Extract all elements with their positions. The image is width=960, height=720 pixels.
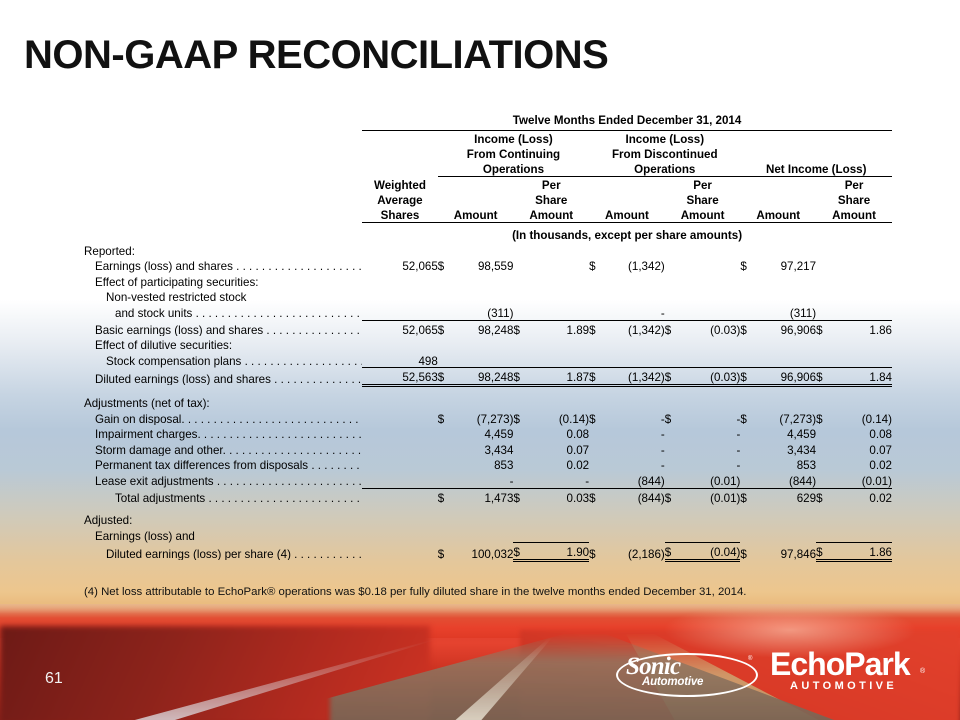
row-label-text: Basic earnings (loss) and shares [95, 324, 266, 337]
spacer-cell [84, 130, 362, 146]
continuing-per-share: 0.08 [526, 425, 589, 441]
col-header-pershare-net: Per [816, 176, 892, 192]
continuing-per-share: 0.03 [526, 488, 589, 504]
net-per-share: (0.01) [828, 472, 892, 488]
net-amount [753, 273, 816, 289]
slide-canvas: NON-GAAP RECONCILIATIONS Twelve Months E… [0, 0, 960, 720]
col-header-amount-continuing: Amount [438, 207, 514, 223]
col-header-amount-discontinued [589, 176, 665, 192]
continuing-per-share: 1.89 [526, 320, 589, 336]
leader-dots: . . . . . . . . . . . . . . . . . . . . … [204, 429, 362, 441]
continuing-per-share: 1.90 [526, 543, 589, 561]
continuing-per-share [526, 273, 589, 289]
group-header-continuing: Income (Loss) [438, 130, 589, 146]
discontinued-amount-currency [589, 304, 601, 320]
discontinued-per-share-currency: $ [665, 410, 677, 426]
weighted-shares-currency [362, 352, 373, 368]
row-label: Effect of participating securities: [84, 273, 362, 289]
continuing-per-share-currency [513, 456, 525, 472]
continuing-amount-currency [438, 425, 450, 441]
weighted-shares [373, 288, 437, 304]
row-label-text: Stock compensation plans [106, 355, 245, 368]
net-amount-currency [740, 288, 752, 304]
row-label-text: Storm damage and other. [95, 444, 229, 457]
weighted-shares-currency [362, 425, 373, 441]
net-amount: 97,217 [753, 257, 816, 273]
table-row: Earnings (loss) and [84, 527, 892, 543]
discontinued-per-share-currency: $ [665, 543, 677, 561]
continuing-amount-currency: $ [438, 410, 450, 426]
continuing-amount-currency [438, 527, 450, 543]
continuing-per-share-currency: $ [513, 368, 525, 386]
group-header-net-income [740, 130, 892, 146]
weighted-shares-currency [362, 441, 373, 457]
weighted-shares [373, 441, 437, 457]
discontinued-per-share: - [677, 425, 740, 441]
row-label: Effect of dilutive securities: [84, 336, 362, 352]
col-header-weighted-shares: Average [362, 192, 438, 207]
discontinued-per-share [677, 304, 740, 320]
weighted-shares-currency [362, 368, 373, 386]
continuing-per-share-currency [513, 425, 525, 441]
discontinued-per-share-currency [665, 352, 677, 368]
net-per-share-currency [816, 456, 828, 472]
sonic-registered-icon: ® [748, 656, 752, 662]
net-amount: 853 [753, 456, 816, 472]
discontinued-amount: (1,342) [601, 368, 664, 386]
discontinued-amount-currency [589, 352, 601, 368]
continuing-per-share: - [526, 472, 589, 488]
col-header-pershare-continuing: Amount [513, 207, 589, 223]
net-amount: 629 [753, 488, 816, 504]
net-amount-currency: $ [740, 488, 752, 504]
discontinued-per-share: (0.03) [677, 320, 740, 336]
net-amount-currency [740, 441, 752, 457]
continuing-amount-currency [438, 288, 450, 304]
continuing-per-share: 1.87 [526, 368, 589, 386]
net-amount-currency [740, 304, 752, 320]
discontinued-amount: (1,342) [601, 257, 664, 273]
row-label-text: Diluted earnings (loss) and shares [95, 373, 274, 386]
net-per-share-currency: $ [816, 410, 828, 426]
discontinued-per-share [677, 273, 740, 289]
discontinued-amount: - [601, 425, 664, 441]
weighted-shares-currency [362, 410, 373, 426]
discontinued-amount-currency [589, 441, 601, 457]
weighted-shares [373, 273, 437, 289]
spacer-cell [84, 115, 362, 130]
row-label: Diluted earnings (loss) per share (4) . … [84, 543, 362, 561]
group-header-discontinued: From Discontinued [589, 146, 740, 161]
weighted-shares [373, 472, 437, 488]
discontinued-per-share-currency [665, 441, 677, 457]
continuing-amount: - [450, 472, 513, 488]
continuing-per-share: 0.07 [526, 441, 589, 457]
col-header-amount-discontinued [589, 192, 665, 207]
continuing-per-share-currency [513, 472, 525, 488]
discontinued-per-share-currency [665, 304, 677, 320]
weighted-shares-currency [362, 273, 373, 289]
discontinued-per-share-currency [665, 273, 677, 289]
col-header-pershare-continuing: Per [513, 176, 589, 192]
col-header-amount-net [740, 192, 816, 207]
row-label: Gain on disposal. . . . . . . . . . . . … [84, 410, 362, 426]
leader-dots: . . . . . . . . . . . . . . . . . . . . … [236, 261, 362, 273]
table-row: Storm damage and other. . . . . . . . . … [84, 441, 892, 457]
col-header-weighted-shares: Weighted [362, 176, 438, 192]
row-label: Impairment charges. . . . . . . . . . . … [84, 425, 362, 441]
row-label-text: Gain on disposal. [95, 413, 188, 426]
discontinued-amount [601, 288, 664, 304]
net-per-share [828, 288, 892, 304]
continuing-amount: 3,434 [450, 441, 513, 457]
table-row: Non-vested restricted stock [84, 288, 892, 304]
net-per-share: (0.14) [828, 410, 892, 426]
continuing-per-share-currency: $ [513, 410, 525, 426]
net-amount-currency [740, 527, 752, 543]
continuing-amount-currency: $ [438, 257, 450, 273]
weighted-shares [373, 488, 437, 504]
col-header-weighted-shares: Shares [362, 207, 438, 223]
continuing-amount: 98,559 [450, 257, 513, 273]
table-row: Stock compensation plans . . . . . . . .… [84, 352, 892, 368]
continuing-per-share-currency [513, 336, 525, 352]
leader-dots: . . . . . . . . . . . . . . . . . . . . … [274, 374, 362, 386]
discontinued-amount: (1,342) [601, 320, 664, 336]
spacer-cell [362, 130, 438, 146]
discontinued-amount-currency: $ [589, 488, 601, 504]
spacer-cell [84, 192, 362, 207]
table-row: Total adjustments . . . . . . . . . . . … [84, 488, 892, 504]
continuing-per-share-currency [513, 352, 525, 368]
weighted-shares-currency [362, 456, 373, 472]
continuing-amount-currency [438, 336, 450, 352]
discontinued-amount: - [601, 441, 664, 457]
row-label-text: Total adjustments [115, 492, 208, 505]
units-note: (In thousands, except per share amounts) [362, 222, 892, 242]
net-amount-currency: $ [740, 368, 752, 386]
net-amount: 96,906 [753, 368, 816, 386]
continuing-amount: 1,473 [450, 488, 513, 504]
col-header-pershare-discontinued: Share [665, 192, 741, 207]
net-per-share: 0.02 [828, 488, 892, 504]
page-number: 61 [45, 670, 63, 688]
net-per-share-currency: $ [816, 368, 828, 386]
sonic-automotive-logo: Sonic Automotive ® [616, 648, 756, 698]
discontinued-per-share [677, 257, 740, 273]
net-per-share-currency [816, 527, 828, 543]
net-per-share [828, 273, 892, 289]
group-header-discontinued: Income (Loss) [589, 130, 740, 146]
weighted-shares: 498 [373, 352, 437, 368]
table-row: and stock units . . . . . . . . . . . . … [84, 304, 892, 320]
net-per-share-currency [816, 352, 828, 368]
weighted-shares: 52,065 [373, 320, 437, 336]
discontinued-amount [601, 336, 664, 352]
net-amount-currency: $ [740, 320, 752, 336]
discontinued-per-share [677, 527, 740, 543]
continuing-amount-currency [438, 304, 450, 320]
continuing-per-share: 0.02 [526, 456, 589, 472]
net-per-share-currency [816, 288, 828, 304]
continuing-amount [450, 527, 513, 543]
continuing-per-share-currency [513, 273, 525, 289]
discontinued-amount-currency [589, 273, 601, 289]
weighted-shares-currency [362, 257, 373, 273]
continuing-amount: 98,248 [450, 368, 513, 386]
row-label: Total adjustments . . . . . . . . . . . … [84, 488, 362, 504]
continuing-per-share-currency [513, 304, 525, 320]
discontinued-amount-currency: $ [589, 543, 601, 561]
discontinued-amount-currency: $ [589, 368, 601, 386]
net-per-share-currency [816, 257, 828, 273]
table-row: Diluted earnings (loss) and shares . . .… [84, 368, 892, 386]
continuing-amount [450, 336, 513, 352]
echopark-registered-icon: ® [920, 668, 925, 675]
discontinued-per-share: - [677, 456, 740, 472]
col-header-amount-net: Amount [740, 207, 816, 223]
section-spacer [84, 504, 892, 511]
net-amount: 96,906 [753, 320, 816, 336]
leader-dots: . . . . . . . . . . . . . . . . . . . . … [266, 325, 362, 337]
section-title: Adjustments (net of tax): [84, 394, 362, 410]
group-header-net-income: Net Income (Loss) [740, 161, 892, 177]
table-row: Permanent tax differences from disposals… [84, 456, 892, 472]
net-amount: 3,434 [753, 441, 816, 457]
echopark-logo-name: EchoPark [770, 648, 910, 680]
continuing-per-share-currency: $ [513, 543, 525, 561]
net-per-share-currency: $ [816, 488, 828, 504]
row-label: Permanent tax differences from disposals… [84, 456, 362, 472]
discontinued-per-share-currency: $ [665, 488, 677, 504]
discontinued-amount: (844) [601, 488, 664, 504]
row-label: Diluted earnings (loss) and shares . . .… [84, 368, 362, 386]
row-label-text: Permanent tax differences from disposals [95, 459, 311, 472]
net-amount: 4,459 [753, 425, 816, 441]
col-header-pershare-net: Amount [816, 207, 892, 223]
net-amount-currency: $ [740, 257, 752, 273]
table-row: Basic earnings (loss) and shares . . . .… [84, 320, 892, 336]
spacer-cell [362, 146, 438, 161]
weighted-shares-currency [362, 336, 373, 352]
discontinued-amount [601, 352, 664, 368]
spacer-cell [84, 161, 362, 177]
leader-dots: . . . . . . . . . . . . . . . . . . . . … [245, 356, 363, 368]
spacer-cell [362, 161, 438, 177]
continuing-amount: 4,459 [450, 425, 513, 441]
weighted-shares: 52,563 [373, 368, 437, 386]
weighted-shares [373, 336, 437, 352]
col-header-pershare-discontinued: Per [665, 176, 741, 192]
net-per-share: 0.07 [828, 441, 892, 457]
continuing-amount: 853 [450, 456, 513, 472]
period-header: Twelve Months Ended December 31, 2014 [362, 115, 892, 130]
discontinued-per-share: - [677, 410, 740, 426]
discontinued-per-share-currency [665, 456, 677, 472]
discontinued-per-share-currency [665, 288, 677, 304]
discontinued-per-share [677, 336, 740, 352]
group-header-continuing: Operations [438, 161, 589, 177]
continuing-per-share [526, 304, 589, 320]
weighted-shares [373, 456, 437, 472]
row-label: Non-vested restricted stock [84, 288, 362, 304]
col-header-amount-continuing [438, 176, 514, 192]
reconciliation-table: Twelve Months Ended December 31, 2014Inc… [84, 115, 892, 562]
continuing-amount: 98,248 [450, 320, 513, 336]
continuing-per-share-currency [513, 257, 525, 273]
discontinued-amount-currency [589, 425, 601, 441]
row-label: Storm damage and other. . . . . . . . . … [84, 441, 362, 457]
discontinued-per-share-currency: $ [665, 320, 677, 336]
leader-dots: . . . . . . . . . . . . . . . . . . . . … [294, 549, 362, 561]
continuing-amount-currency: $ [438, 488, 450, 504]
weighted-shares [373, 304, 437, 320]
row-label: Earnings (loss) and [84, 527, 362, 543]
row-label-text: Lease exit adjustments [95, 475, 217, 488]
group-header-net-income [740, 146, 892, 161]
continuing-per-share [526, 288, 589, 304]
net-per-share: 1.84 [828, 368, 892, 386]
table-row: Effect of dilutive securities: [84, 336, 892, 352]
spacer-cell [84, 176, 362, 192]
section-title-filler [362, 242, 892, 258]
net-amount [753, 336, 816, 352]
spacer-cell [84, 222, 362, 242]
net-per-share-currency [816, 273, 828, 289]
continuing-per-share-currency [513, 441, 525, 457]
net-amount: 97,846 [753, 543, 816, 561]
weighted-shares [373, 527, 437, 543]
discontinued-amount-currency [589, 527, 601, 543]
continuing-amount [450, 352, 513, 368]
discontinued-amount-currency: $ [589, 320, 601, 336]
discontinued-per-share-currency [665, 425, 677, 441]
net-amount-currency: $ [740, 410, 752, 426]
weighted-shares [373, 425, 437, 441]
weighted-shares [373, 410, 437, 426]
footnote-text: (4) Net loss attributable to EchoPark® o… [84, 586, 746, 598]
row-label-text: Impairment charges. [95, 428, 204, 441]
continuing-per-share [526, 527, 589, 543]
page-title: NON-GAAP RECONCILIATIONS [24, 33, 608, 78]
continuing-per-share [526, 352, 589, 368]
net-per-share [828, 527, 892, 543]
discontinued-amount [601, 273, 664, 289]
col-header-pershare-discontinued: Amount [665, 207, 741, 223]
net-amount-currency [740, 425, 752, 441]
leader-dots: . . . . . . . . . . . . . . . . . . . . … [311, 460, 362, 472]
discontinued-per-share [677, 288, 740, 304]
table-row: Earnings (loss) and shares . . . . . . .… [84, 257, 892, 273]
net-amount: (311) [753, 304, 816, 320]
table-row: Impairment charges. . . . . . . . . . . … [84, 425, 892, 441]
echopark-automotive-logo: EchoPark ® AUTOMOTIVE [770, 648, 935, 696]
continuing-amount-currency [438, 352, 450, 368]
col-header-pershare-continuing: Share [513, 192, 589, 207]
discontinued-amount-currency [589, 288, 601, 304]
row-label-text: and stock units [115, 307, 196, 320]
discontinued-per-share-currency [665, 257, 677, 273]
continuing-per-share [526, 336, 589, 352]
col-header-amount-continuing [438, 192, 514, 207]
net-amount-currency [740, 273, 752, 289]
row-label: and stock units . . . . . . . . . . . . … [84, 304, 362, 320]
continuing-per-share [526, 257, 589, 273]
weighted-shares-currency [362, 472, 373, 488]
net-per-share [828, 352, 892, 368]
continuing-amount: (7,273) [450, 410, 513, 426]
discontinued-amount-currency [589, 472, 601, 488]
net-amount-currency [740, 352, 752, 368]
discontinued-amount: (2,186) [601, 543, 664, 561]
continuing-amount [450, 273, 513, 289]
road-top-fade [0, 604, 960, 618]
net-amount [753, 352, 816, 368]
net-amount-currency [740, 472, 752, 488]
continuing-per-share-currency [513, 288, 525, 304]
continuing-amount [450, 288, 513, 304]
net-amount-currency [740, 336, 752, 352]
net-amount: (7,273) [753, 410, 816, 426]
continuing-per-share-currency: $ [513, 488, 525, 504]
weighted-shares-currency [362, 320, 373, 336]
continuing-amount: 100,032 [450, 543, 513, 561]
row-label: Earnings (loss) and shares . . . . . . .… [84, 257, 362, 273]
continuing-amount-currency: $ [438, 368, 450, 386]
row-label-text: Diluted earnings (loss) per share (4) [106, 548, 294, 561]
table-row: Diluted earnings (loss) per share (4) . … [84, 543, 892, 561]
continuing-per-share-currency: $ [513, 320, 525, 336]
table-row: Lease exit adjustments . . . . . . . . .… [84, 472, 892, 488]
row-label-text: Earnings (loss) and shares [95, 260, 236, 273]
table-row: Effect of participating securities: [84, 273, 892, 289]
leader-dots: . . . . . . . . . . . . . . . . . . . . … [208, 493, 362, 505]
weighted-shares-currency [362, 543, 373, 561]
col-header-pershare-net: Share [816, 192, 892, 207]
net-per-share [828, 304, 892, 320]
net-per-share-currency: $ [816, 543, 828, 561]
leader-dots: . . . . . . . . . . . . . . . . . . . . … [188, 414, 362, 426]
col-header-amount-discontinued: Amount [589, 207, 665, 223]
leader-dots: . . . . . . . . . . . . . . . . . . . . … [217, 476, 362, 488]
echopark-logo-sub: AUTOMOTIVE [790, 681, 897, 692]
discontinued-per-share-currency [665, 336, 677, 352]
discontinued-amount-currency: $ [589, 257, 601, 273]
net-amount [753, 527, 816, 543]
weighted-shares [373, 543, 437, 561]
spacer-cell [84, 146, 362, 161]
continuing-per-share: (0.14) [526, 410, 589, 426]
discontinued-amount-currency [589, 456, 601, 472]
net-per-share [828, 336, 892, 352]
group-header-continuing: From Continuing [438, 146, 589, 161]
continuing-amount-currency [438, 273, 450, 289]
discontinued-amount: - [601, 456, 664, 472]
net-amount [753, 288, 816, 304]
leader-dots: . . . . . . . . . . . . . . . . . . . . … [196, 308, 363, 320]
discontinued-per-share: (0.01) [677, 488, 740, 504]
discontinued-amount: - [601, 410, 664, 426]
discontinued-per-share [677, 352, 740, 368]
discontinued-per-share: (0.03) [677, 368, 740, 386]
continuing-per-share-currency [513, 527, 525, 543]
continuing-amount: (311) [450, 304, 513, 320]
net-per-share-currency: $ [816, 320, 828, 336]
net-per-share: 1.86 [828, 543, 892, 561]
discontinued-amount [601, 527, 664, 543]
net-per-share-currency [816, 441, 828, 457]
net-per-share: 0.02 [828, 456, 892, 472]
